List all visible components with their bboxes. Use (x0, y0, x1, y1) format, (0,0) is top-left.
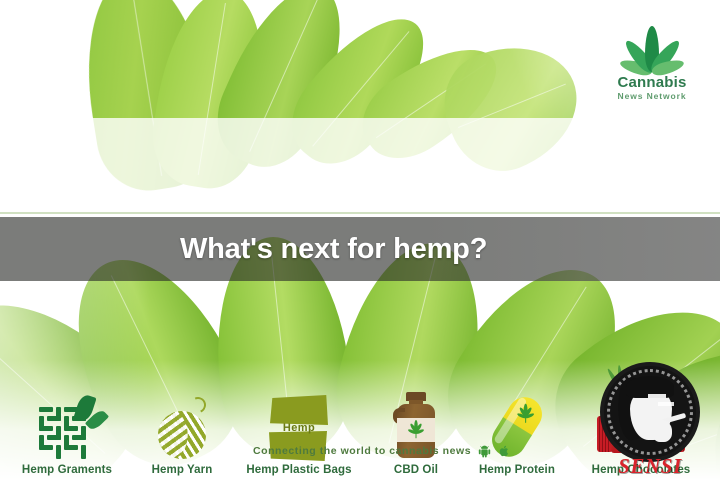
sensi-seeds-logo[interactable]: SENSI SEEDS (586, 362, 714, 474)
woven-fabric-icon (2, 391, 132, 463)
page-title: What's next for hemp? (180, 233, 487, 266)
product-item-hemp-garments[interactable]: Hemp Graments (2, 391, 132, 476)
product-label: Hemp Plastic Bags (232, 464, 366, 476)
band-divider (0, 212, 720, 214)
android-icon[interactable] (478, 444, 491, 458)
brand-subtitle: News Network (600, 91, 704, 102)
sponsor-wordmark: SENSI SEEDS (586, 454, 714, 480)
cannabis-leaf-icon (406, 420, 426, 440)
product-item-hemp-protein[interactable]: Hemp Protein (464, 391, 570, 476)
product-label: Hemp Protein (464, 464, 570, 476)
yarn-ball-icon (136, 391, 228, 463)
cannabis-leaf-icon (511, 400, 540, 429)
product-label: CBD Oil (372, 464, 460, 476)
product-label: Hemp Graments (2, 464, 132, 476)
smoking-woman-medallion-icon (600, 362, 700, 462)
cannabis-leaf-icon (600, 24, 704, 72)
apple-icon[interactable] (498, 444, 510, 458)
brand-name: Cannabis (600, 74, 704, 91)
product-item-cbd-oil[interactable]: CBD Oil (372, 391, 460, 476)
hemp-infographic-poster: Cannabis News Network (0, 0, 720, 480)
product-icon-band (0, 118, 720, 214)
product-item-hemp-yarn[interactable]: Hemp Yarn (136, 391, 228, 476)
product-label: Hemp Yarn (136, 464, 228, 476)
tagline: Connecting the world to cannabis news (253, 444, 510, 458)
headline-band: What's next for hemp? (0, 217, 720, 281)
cannabis-news-network-logo[interactable]: Cannabis News Network (600, 24, 704, 110)
bag-text: Hemp (268, 422, 330, 434)
tagline-text: Connecting the world to cannabis news (253, 445, 471, 457)
product-item-hemp-plastic-bags[interactable]: Hemp Hemp Plastic Bags (232, 391, 366, 476)
